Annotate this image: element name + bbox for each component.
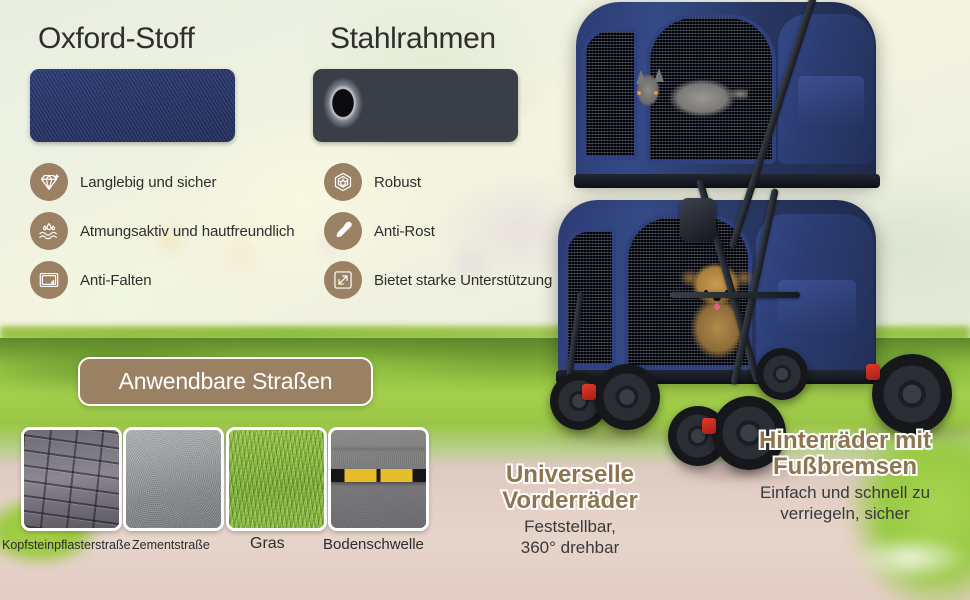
feature-label: Atmungsaktiv und hautfreundlich <box>80 223 295 240</box>
road-thumb-grass <box>226 427 327 531</box>
road-thumb-speed-bump <box>328 427 429 531</box>
rear-wheel <box>756 348 808 400</box>
infographic-canvas: Oxford-Stoff Stahlrahmen Langlebig und s… <box>0 0 970 600</box>
cement-texture <box>126 430 221 528</box>
feature-row-anti-rust: Anti-Rost <box>324 212 435 250</box>
rear-wheel <box>872 354 952 434</box>
road-label-grass: Gras <box>250 535 285 553</box>
cat-in-upper-carrier <box>628 64 748 140</box>
feature-label: Anti-Rost <box>374 223 435 240</box>
front-wheel <box>594 364 660 430</box>
upper-carrier-pocket <box>798 76 864 128</box>
waves-icon <box>30 212 68 250</box>
rear-wheels-subtitle: Einfach und schnell zu verriegeln, siche… <box>718 483 970 524</box>
oxford-fabric-swatch <box>30 69 235 142</box>
steel-frame-title: Stahlrahmen <box>330 22 496 56</box>
feature-label: Anti-Falten <box>80 272 151 289</box>
rear-wheels-title: Hinterräder mit Fußbremsen <box>718 428 970 480</box>
feature-row-breathable: Atmungsaktiv und hautfreundlich <box>30 212 295 250</box>
road-label-speed-bump: Bodenschwelle <box>323 536 424 553</box>
front-wheels-callout: Universelle Vorderräder Feststellbar, 36… <box>468 462 672 558</box>
feature-label: Langlebig und sicher <box>80 174 216 191</box>
rear-wheels-callout: Hinterräder mit Fußbremsen Einfach und s… <box>718 428 970 524</box>
pet-stroller-photo <box>520 0 970 462</box>
road-thumb-cement <box>123 427 224 531</box>
feature-row-durable: Langlebig und sicher <box>30 163 216 201</box>
oxford-fabric-title: Oxford-Stoff <box>38 22 194 56</box>
grass-texture <box>229 430 324 528</box>
road-label-cobblestone: Kopfsteinpflasterstraße <box>2 538 131 552</box>
dropper-icon <box>324 212 362 250</box>
cobblestone-texture <box>24 430 119 528</box>
feature-row-strong-support: Bietet starke Unterstützung <box>324 261 552 299</box>
cat-face <box>636 90 660 96</box>
applicable-roads-banner: Anwendbare Straßen <box>78 357 373 406</box>
steel-tubes-swatch <box>313 69 518 142</box>
foot-brake-lever <box>866 364 880 380</box>
stroller-folding-hub <box>680 198 716 242</box>
stroller-cross-bar <box>670 292 800 298</box>
speed-bump-texture <box>331 430 426 528</box>
banner-label: Anwendbare Straßen <box>119 368 333 395</box>
road-thumb-cobblestone <box>21 427 122 531</box>
front-wheels-subtitle: Feststellbar, 360° drehbar <box>468 517 672 558</box>
feature-row-robust: Robust <box>324 163 421 201</box>
diamond-icon <box>30 163 68 201</box>
lower-carrier-pocket <box>778 280 856 336</box>
foot-brake-lever <box>702 418 716 434</box>
expand-arrow-icon <box>324 261 362 299</box>
road-label-cement: Zementstraße <box>132 538 210 552</box>
fabric-icon <box>30 261 68 299</box>
front-wheels-title: Universelle Vorderräder <box>468 462 672 514</box>
foot-brake-lever <box>582 384 596 400</box>
feature-label: Robust <box>374 174 421 191</box>
cube-icon <box>324 163 362 201</box>
feature-row-anti-wrinkle: Anti-Falten <box>30 261 151 299</box>
bottom-right-highlight-blur <box>850 536 970 580</box>
upper-carrier-base <box>574 174 880 188</box>
